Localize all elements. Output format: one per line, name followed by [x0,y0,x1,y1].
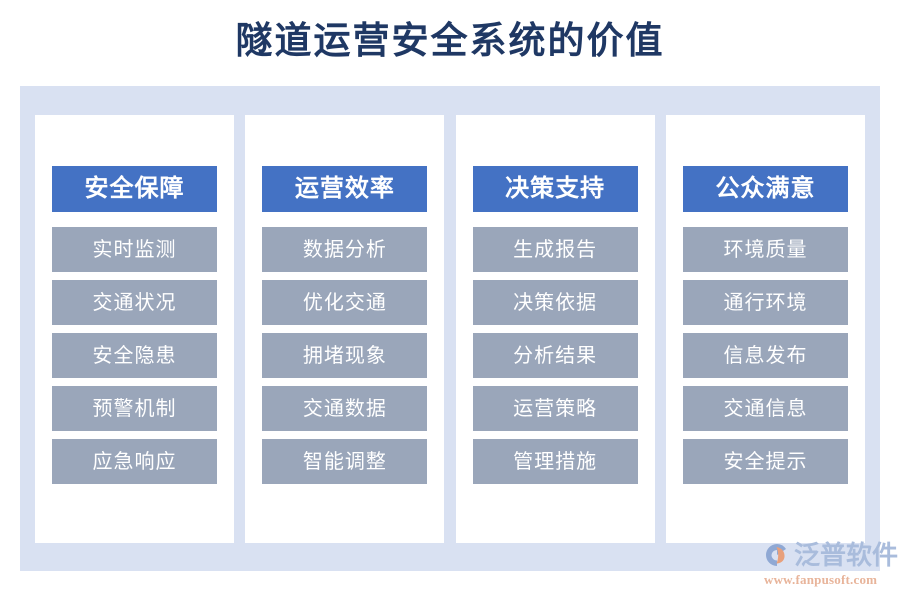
column-item[interactable]: 环境质量 [683,227,848,272]
brand-url: www.fanpusoft.com [764,572,877,587]
column-header-2[interactable]: 运营效率 [262,166,427,212]
column-item[interactable]: 数据分析 [262,227,427,272]
brand-name: 泛普软件 [794,540,898,570]
fanpu-leaf-logo-icon [762,540,792,570]
column-header-4[interactable]: 公众满意 [683,166,848,212]
column-header-1[interactable]: 安全保障 [52,166,217,212]
column-item[interactable]: 应急响应 [52,439,217,484]
column-item[interactable]: 交通数据 [262,386,427,431]
column-item[interactable]: 安全提示 [683,439,848,484]
column-item[interactable]: 决策依据 [473,280,638,325]
column-item[interactable]: 分析结果 [473,333,638,378]
column-item[interactable]: 拥堵现象 [262,333,427,378]
brand-watermark: 泛普软件 www.fanpusoft.com [762,538,894,590]
slide-canvas: 隧道运营安全系统的价值 安全保障 实时监测 交通状况 安全隐患 预警机制 应急响… [0,0,900,600]
column-item[interactable]: 智能调整 [262,439,427,484]
column-item[interactable]: 优化交通 [262,280,427,325]
value-column-2: 运营效率 数据分析 优化交通 拥堵现象 交通数据 智能调整 [245,115,444,543]
column-item[interactable]: 运营策略 [473,386,638,431]
value-column-4: 公众满意 环境质量 通行环境 信息发布 交通信息 安全提示 [666,115,865,543]
column-item[interactable]: 实时监测 [52,227,217,272]
page-title: 隧道运营安全系统的价值 [0,18,900,66]
column-item[interactable]: 通行环境 [683,280,848,325]
column-item[interactable]: 管理措施 [473,439,638,484]
column-item[interactable]: 交通信息 [683,386,848,431]
column-item[interactable]: 信息发布 [683,333,848,378]
value-columns: 安全保障 实时监测 交通状况 安全隐患 预警机制 应急响应 运营效率 数据分析 … [35,115,865,543]
column-item[interactable]: 生成报告 [473,227,638,272]
value-column-3: 决策支持 生成报告 决策依据 分析结果 运营策略 管理措施 [456,115,655,543]
column-item[interactable]: 安全隐患 [52,333,217,378]
value-column-1: 安全保障 实时监测 交通状况 安全隐患 预警机制 应急响应 [35,115,234,543]
column-item[interactable]: 交通状况 [52,280,217,325]
column-header-3[interactable]: 决策支持 [473,166,638,212]
brand-row: 泛普软件 [762,538,898,572]
column-item[interactable]: 预警机制 [52,386,217,431]
